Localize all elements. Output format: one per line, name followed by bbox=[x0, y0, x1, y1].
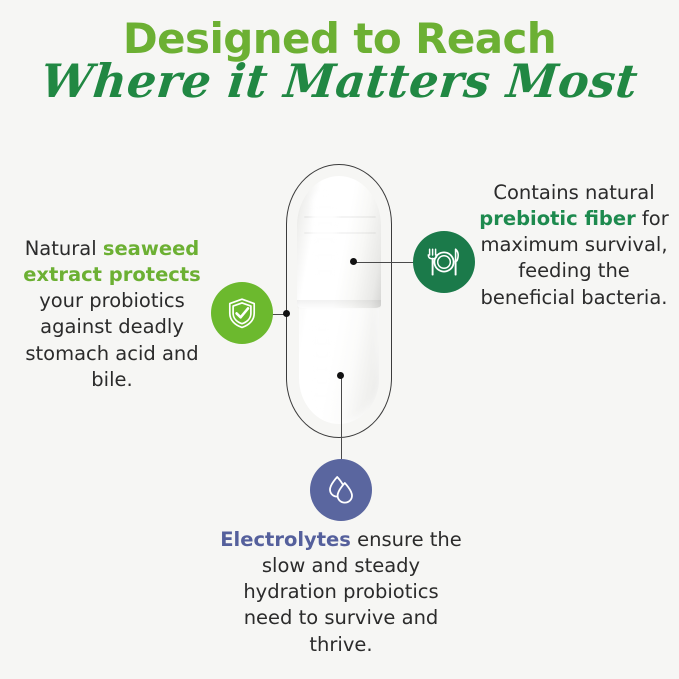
badge-prebiotic-fiber bbox=[413, 231, 475, 293]
fork-plate-knife-icon bbox=[425, 245, 463, 279]
capsule-body bbox=[299, 178, 379, 424]
infographic-canvas: Designed to Reach Where it Matters Most bbox=[0, 0, 679, 679]
connector-dot-prebiotic bbox=[350, 258, 357, 265]
callout-text-seaweed: Natural seaweed extract protects your pr… bbox=[8, 236, 216, 393]
headline-line-2: Where it Matters Most bbox=[0, 58, 679, 104]
capsule-seam bbox=[297, 300, 381, 310]
connector-line-prebiotic bbox=[353, 262, 415, 263]
callout-text-prebiotic-fiber: Contains natural prebiotic fiber for max… bbox=[476, 180, 672, 311]
badge-seaweed bbox=[211, 282, 273, 344]
callout-prebiotic-highlight: prebiotic fiber bbox=[479, 207, 635, 230]
callout-electrolytes-highlight: Electrolytes bbox=[220, 528, 351, 551]
capsule-ring-upper bbox=[304, 216, 376, 218]
capsule-body-highlight bbox=[311, 318, 333, 410]
capsule-cap-highlight bbox=[312, 190, 338, 286]
water-droplets-icon bbox=[323, 472, 359, 508]
capsule-outline-shape bbox=[286, 164, 392, 438]
badge-electrolytes bbox=[310, 459, 372, 521]
connector-line-electrolytes bbox=[341, 375, 342, 459]
connector-dot-electrolytes bbox=[337, 372, 344, 379]
callout-text-electrolytes: Electrolytes ensure the slow and steady … bbox=[218, 527, 464, 658]
headline: Designed to Reach Where it Matters Most bbox=[0, 18, 679, 104]
capsule-cap bbox=[297, 176, 381, 308]
shield-check-icon bbox=[225, 296, 259, 330]
callout-seaweed-before: Natural bbox=[25, 237, 103, 260]
capsule-ring-lower bbox=[304, 232, 376, 234]
callout-prebiotic-before: Contains natural bbox=[493, 181, 654, 204]
callout-seaweed-after: your probiotics against deadly stomach a… bbox=[25, 289, 198, 390]
connector-dot-seaweed bbox=[283, 310, 290, 317]
